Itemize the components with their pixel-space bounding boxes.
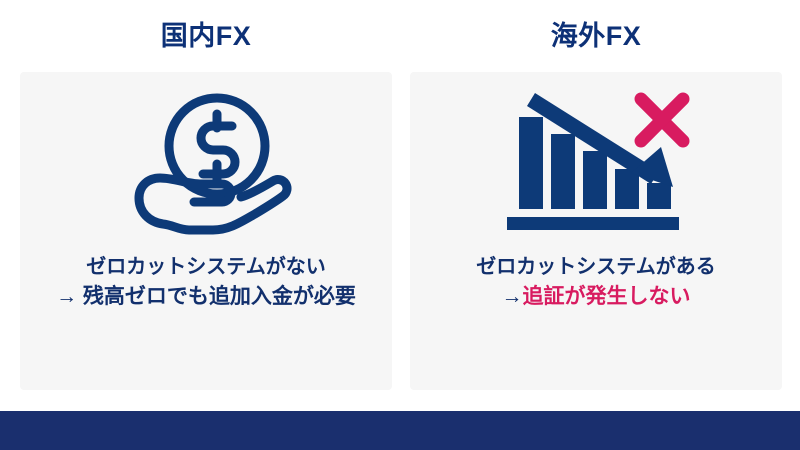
comparison-graphic: 国内FX ゼロカットシステムが (0, 0, 800, 450)
panel-overseas-fx: ゼロカットシステムがある →追証が発生しない (410, 72, 782, 390)
caption-line2-text-domestic: 残高ゼロでも追加入金が必要 (83, 285, 356, 308)
red-x-mark-icon (641, 99, 683, 141)
caption-domestic: ゼロカットシステムがない → 残高ゼロでも追加入金が必要 (20, 254, 392, 311)
caption-line2-text-overseas: 追証が発生しない (523, 285, 691, 308)
caption-overseas: ゼロカットシステムがある →追証が発生しない (410, 254, 782, 311)
footer-bar (0, 411, 800, 450)
column-title-domestic: 国内FX (161, 0, 252, 72)
caption-line1-domestic: ゼロカットシステムがない (20, 254, 392, 280)
arrow-icon-domestic: → (56, 285, 83, 308)
declining-bar-chart-with-red-x-icon (501, 87, 691, 239)
icon-container-overseas (410, 72, 782, 254)
chart-baseline-icon (507, 217, 679, 230)
comparison-columns: 国内FX ゼロカットシステムが (0, 0, 800, 390)
panel-domestic-fx: ゼロカットシステムがない → 残高ゼロでも追加入金が必要 (20, 72, 392, 390)
icon-container-domestic (20, 72, 392, 254)
caption-line2-overseas: →追証が発生しない (410, 283, 782, 311)
caption-line1-overseas: ゼロカットシステムがある (410, 254, 782, 280)
column-domestic-fx: 国内FX ゼロカットシステムが (20, 0, 392, 390)
column-title-overseas: 海外FX (551, 0, 642, 72)
hand-holding-dollar-coin-icon (113, 88, 299, 238)
column-overseas-fx: 海外FX (410, 0, 782, 390)
caption-line2-domestic: → 残高ゼロでも追加入金が必要 (20, 283, 392, 311)
arrow-icon-overseas: → (502, 285, 523, 308)
